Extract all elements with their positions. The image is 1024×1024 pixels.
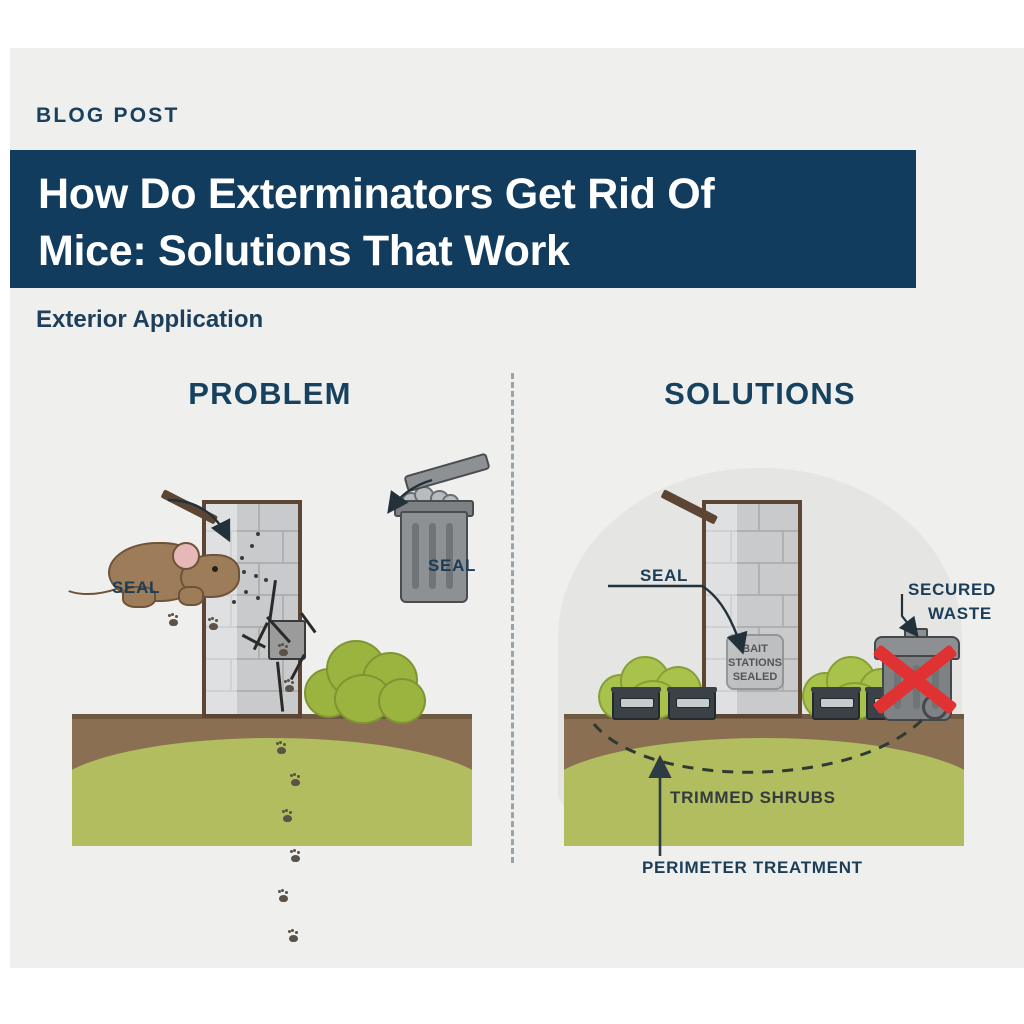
bait-station-2 (668, 690, 716, 720)
paw-print (290, 774, 301, 786)
label-trimmed-shrubs: TRIMMED SHRUBS (670, 788, 836, 808)
mouse-ear (172, 542, 200, 570)
mouse-front-leg (178, 586, 204, 606)
secured-waste-bin (872, 628, 958, 724)
paw-print (278, 890, 289, 902)
bait-station-sign: BAIT STATIONS SEALED (726, 634, 784, 690)
paw-print (278, 644, 289, 656)
title-bar: How Do Exterminators Get Rid Of Mice: So… (10, 150, 916, 288)
paw-print (276, 742, 287, 754)
label-secured-waste-line1: SECURED (908, 580, 996, 600)
infographic-root: BLOG POST How Do Exterminators Get Rid O… (0, 0, 1024, 1024)
paw-print (290, 850, 301, 862)
solutions-scene: BAIT STATIONS SEALED (550, 438, 970, 858)
paw-print (288, 930, 299, 942)
title-line-2: Mice: Solutions That Work (38, 223, 886, 280)
red-x-overlay (866, 638, 964, 720)
bait-station-3 (812, 690, 860, 720)
panel-divider (511, 373, 514, 863)
paw-print (284, 680, 295, 692)
wall-highlight-problem (206, 504, 237, 714)
panel-heading-solutions: SOLUTIONS (550, 376, 970, 412)
panel-heading-problem: PROBLEM (70, 376, 470, 412)
bait-station-1 (612, 690, 660, 720)
bait-sign-line-1: BAIT (742, 643, 768, 655)
label-secured-waste-line2: WASTE (928, 604, 992, 624)
ground-soil-solution (564, 714, 964, 846)
bait-sign-line-3: SEALED (733, 671, 778, 683)
problem-scene: SEAL SEAL (60, 438, 472, 858)
label-seal-trash: SEAL (428, 556, 476, 576)
infographic-canvas: BLOG POST How Do Exterminators Get Rid O… (10, 48, 1024, 968)
kicker-label: BLOG POST (36, 104, 179, 128)
label-seal-wall: SEAL (112, 578, 160, 598)
label-perimeter-treatment: PERIMETER TREATMENT (642, 858, 863, 878)
overgrown-shrub-problem (304, 634, 422, 720)
paw-print (208, 618, 219, 630)
label-seal-solution: SEAL (640, 566, 688, 586)
bait-sign-line-2: STATIONS (728, 657, 782, 669)
paw-print (168, 614, 179, 626)
ground-soil-problem (72, 714, 472, 846)
subtitle-label: Exterior Application (36, 306, 263, 334)
mouse-eye (212, 566, 218, 572)
title-line-1: How Do Exterminators Get Rid Of (38, 166, 886, 223)
paw-print (282, 810, 293, 822)
